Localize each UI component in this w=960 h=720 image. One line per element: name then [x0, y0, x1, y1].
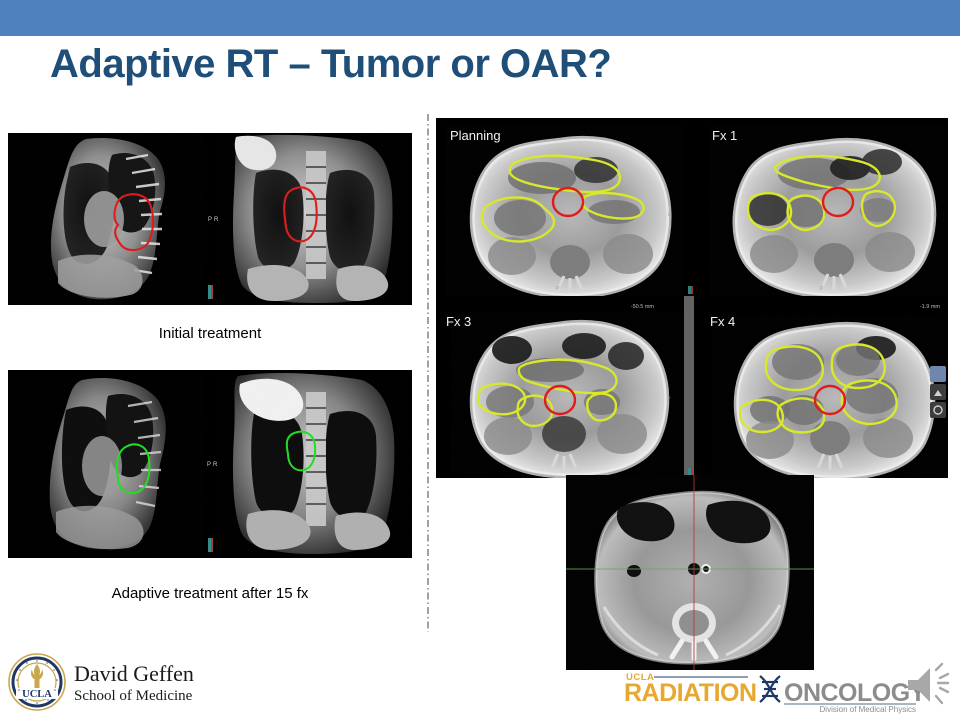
ucla-seal-icon: UCLA: [9, 654, 65, 710]
sagittal-view-initial: [8, 133, 204, 305]
svg-text:P: P: [208, 217, 212, 223]
geffen-line1: David Geffen: [74, 661, 194, 686]
ucla-radiation-oncology-logo: UCLA RADIATION ONCOLOGY Division of Medi…: [620, 668, 920, 714]
layout-icon: [930, 366, 946, 382]
svg-text:L: L: [668, 212, 671, 218]
svg-text:P: P: [207, 462, 211, 468]
header-bar: [0, 0, 960, 36]
panel-label-fx4: Fx 4: [710, 314, 735, 329]
coronal-view-initial: [218, 133, 412, 305]
caption-initial-treatment: Initial treatment: [8, 325, 412, 342]
slice-position-fx3: -50.5 mm: [631, 304, 655, 310]
viewer-toolbar: [930, 366, 946, 418]
radonc-word-radiation: RADIATION: [624, 679, 757, 707]
svg-text:R: R: [213, 462, 218, 468]
coronal-view-adaptive: [218, 370, 412, 558]
panel-label-fx3: Fx 3: [446, 314, 471, 329]
panel-label-planning: Planning: [450, 128, 501, 143]
panel-label-fx1: Fx 1: [712, 128, 737, 143]
settings-icon: [930, 402, 946, 418]
audio-speaker-icon[interactable]: [898, 660, 954, 710]
quad-panel-planning: Planning P L: [446, 126, 692, 302]
quad-viewer: Planning P L: [436, 118, 948, 478]
dna-helix-icon: [760, 676, 780, 702]
seal-ucla-text: UCLA: [22, 689, 52, 700]
svg-text:L: L: [668, 394, 671, 400]
slide-root: Adaptive RT – Tumor or OAR?: [0, 0, 960, 720]
quad-panel-fx1: Fx 1 P L: [710, 126, 948, 302]
caption-adaptive-treatment: Adaptive treatment after 15 fx: [8, 585, 412, 602]
column-divider: [427, 114, 429, 632]
page-title: Adaptive RT – Tumor or OAR?: [50, 42, 910, 86]
adaptive-treatment-images: P R: [8, 370, 412, 558]
svg-text:L: L: [934, 212, 937, 218]
geffen-line2: School of Medicine: [74, 688, 193, 704]
quad-panel-fx4: Fx 4 L: [710, 314, 948, 478]
ucla-geffen-logo: UCLA David Geffen School of Medicine: [6, 650, 216, 714]
cbct-axial-image: [566, 475, 814, 670]
sagittal-view-adaptive: [8, 370, 204, 558]
initial-treatment-images: P R: [8, 133, 412, 305]
slice-position-fx4: -1.9 mm: [920, 304, 941, 310]
quad-panel-fx3: Fx 3 L: [446, 312, 686, 478]
